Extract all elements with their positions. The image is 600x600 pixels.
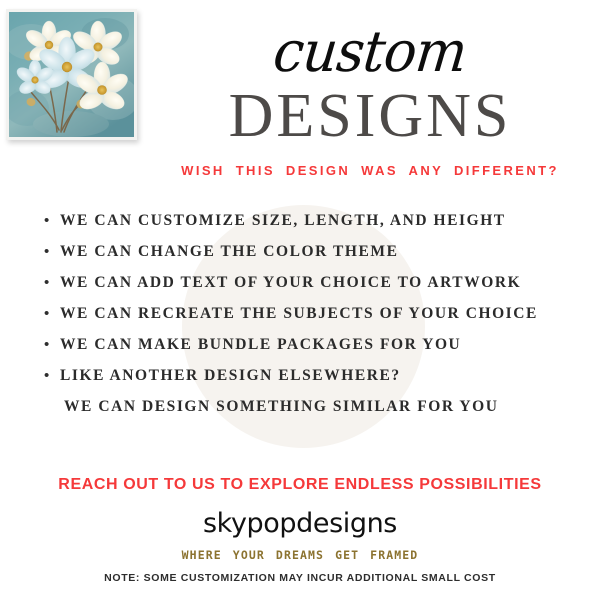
bullet-icon: • (44, 306, 60, 321)
list-item: • WE CAN ADD TEXT OF YOUR CHOICE TO ARTW… (44, 274, 589, 305)
list-item: • WE CAN MAKE BUNDLE PACKAGES FOR YOU (44, 336, 589, 367)
list-item-continuation: • WE CAN DESIGN SOMETHING SIMILAR FOR YO… (44, 398, 589, 429)
bullet-icon: • (44, 244, 60, 259)
list-item: • WE CAN CUSTOMIZE SIZE, LENGTH, AND HEI… (44, 212, 589, 243)
list-item-label: LIKE ANOTHER DESIGN ELSEWHERE? (60, 367, 401, 385)
list-item-label: WE CAN CUSTOMIZE SIZE, LENGTH, AND HEIGH… (60, 212, 506, 230)
feature-list: • WE CAN CUSTOMIZE SIZE, LENGTH, AND HEI… (44, 212, 589, 429)
promo-graphic-canvas: custom DESIGNS WISH THIS DESIGN WAS ANY … (0, 0, 600, 600)
page-subtitle: WISH THIS DESIGN WAS ANY DIFFERENT? (140, 163, 600, 178)
list-item-label: WE CAN DESIGN SOMETHING SIMILAR FOR YOU (60, 398, 499, 416)
bullet-icon: • (44, 213, 60, 228)
list-item-label: WE CAN ADD TEXT OF YOUR CHOICE TO ARTWOR… (60, 274, 521, 292)
framed-floral-painting (6, 9, 137, 140)
brand-tagline: WHERE YOUR DREAMS GET FRAMED (0, 548, 600, 562)
page-title-script: custom (137, 24, 600, 81)
brand-block: skypopdesigns WHERE YOUR DREAMS GET FRAM… (0, 508, 600, 562)
page-title: DESIGNS (140, 85, 600, 147)
list-item: • WE CAN RECREATE THE SUBJECTS OF YOUR C… (44, 305, 589, 336)
list-item: • WE CAN CHANGE THE COLOR THEME (44, 243, 589, 274)
list-item: • LIKE ANOTHER DESIGN ELSEWHERE? (44, 367, 589, 398)
list-item-label: WE CAN RECREATE THE SUBJECTS OF YOUR CHO… (60, 305, 538, 323)
call-to-action-text: REACH OUT TO US TO EXPLORE ENDLESS POSSI… (0, 476, 600, 494)
list-item-label: WE CAN MAKE BUNDLE PACKAGES FOR YOU (60, 336, 461, 354)
headline-block: custom DESIGNS WISH THIS DESIGN WAS ANY … (140, 0, 600, 178)
brand-name: skypopdesigns (0, 508, 600, 539)
footer-note: NOTE: SOME CUSTOMIZATION MAY INCUR ADDIT… (0, 572, 600, 584)
list-item-label: WE CAN CHANGE THE COLOR THEME (60, 243, 399, 261)
bullet-icon: • (44, 275, 60, 290)
bullet-icon: • (44, 368, 60, 383)
artwork-canvas (9, 12, 134, 137)
bullet-icon: • (44, 337, 60, 352)
